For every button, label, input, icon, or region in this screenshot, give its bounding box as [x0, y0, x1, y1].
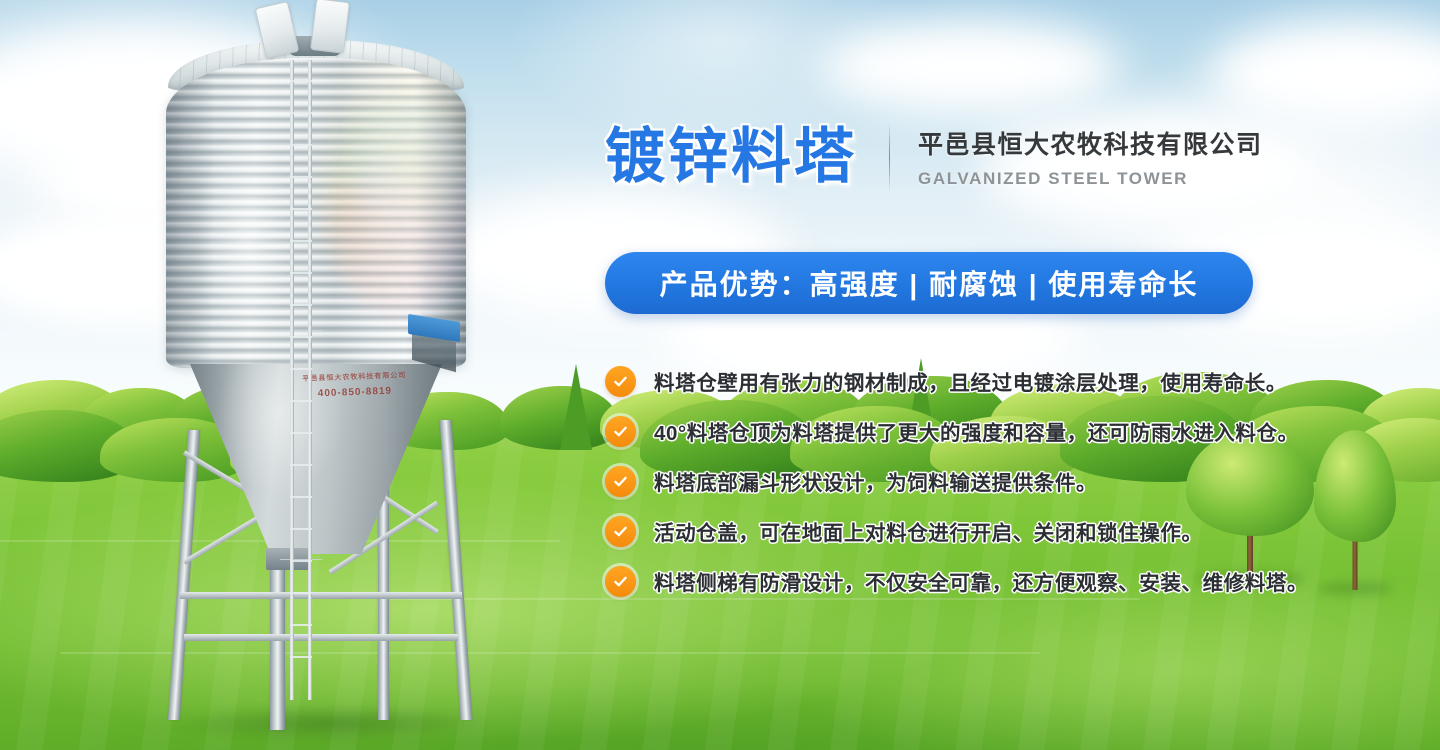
headline-row: 镀锌料塔 平邑县恒大农牧科技有限公司 GALVANIZED STEEL TOWE…: [605, 122, 1263, 192]
check-icon: [605, 416, 636, 447]
silo-ring: [180, 592, 462, 599]
company-name: 平邑县恒大农牧科技有限公司: [918, 125, 1263, 161]
list-item: 料塔仓壁用有张力的钢材制成，且经过电镀涂层处理，使用寿命长。: [605, 356, 1435, 406]
list-item: 料塔侧梯有防滑设计，不仅安全可靠，还方便观察、安装、维修料塔。: [605, 556, 1435, 606]
silo-leg: [168, 430, 200, 720]
check-icon: [605, 466, 636, 497]
silo-ring: [184, 634, 458, 641]
silo-ground-shadow: [170, 706, 490, 740]
check-icon: [605, 516, 636, 547]
feature-text: 活动仓盖，可在地面上对料仓进行开启、关闭和锁住操作。: [654, 516, 1203, 546]
banner-content: 镀锌料塔 平邑县恒大农牧科技有限公司 GALVANIZED STEEL TOWE…: [600, 0, 1440, 750]
feature-text: 40°料塔仓顶为料塔提供了更大的强度和容量，还可防雨水进入料仓。: [654, 416, 1299, 446]
brand-block: 平邑县恒大农牧科技有限公司 GALVANIZED STEEL TOWER: [918, 125, 1263, 189]
list-item: 料塔底部漏斗形状设计，为饲料输送提供条件。: [605, 456, 1435, 506]
list-item: 40°料塔仓顶为料塔提供了更大的强度和容量，还可防雨水进入料仓。: [605, 406, 1435, 456]
silo-leg: [440, 420, 473, 720]
page-title: 镀锌料塔: [605, 127, 857, 187]
check-icon: [605, 366, 636, 397]
advantage-pill-label: 产品优势：高强度 | 耐腐蚀 | 使用寿命长: [660, 263, 1199, 303]
advantage-pill: 产品优势：高强度 | 耐腐蚀 | 使用寿命长: [605, 252, 1253, 314]
title-divider: [889, 122, 890, 192]
feature-list: 料塔仓壁用有张力的钢材制成，且经过电镀涂层处理，使用寿命长。 40°料塔仓顶为料…: [605, 356, 1435, 606]
hero-banner: 平邑县恒大农牧科技有限公司 400-850-8819: [0, 0, 1440, 750]
check-icon: [605, 566, 636, 597]
silo-hatch-lid: [310, 0, 350, 54]
feature-text: 料塔仓壁用有张力的钢材制成，且经过电镀涂层处理，使用寿命长。: [654, 366, 1287, 396]
feature-text: 料塔底部漏斗形状设计，为饲料输送提供条件。: [654, 466, 1097, 496]
silo-ladder: [288, 60, 314, 700]
galvanized-feed-silo-image: 平邑县恒大农牧科技有限公司 400-850-8819: [150, 0, 510, 750]
list-item: 活动仓盖，可在地面上对料仓进行开启、关闭和锁住操作。: [605, 506, 1435, 556]
feature-text: 料塔侧梯有防滑设计，不仅安全可靠，还方便观察、安装、维修料塔。: [654, 566, 1308, 596]
english-subtitle: GALVANIZED STEEL TOWER: [918, 169, 1263, 189]
